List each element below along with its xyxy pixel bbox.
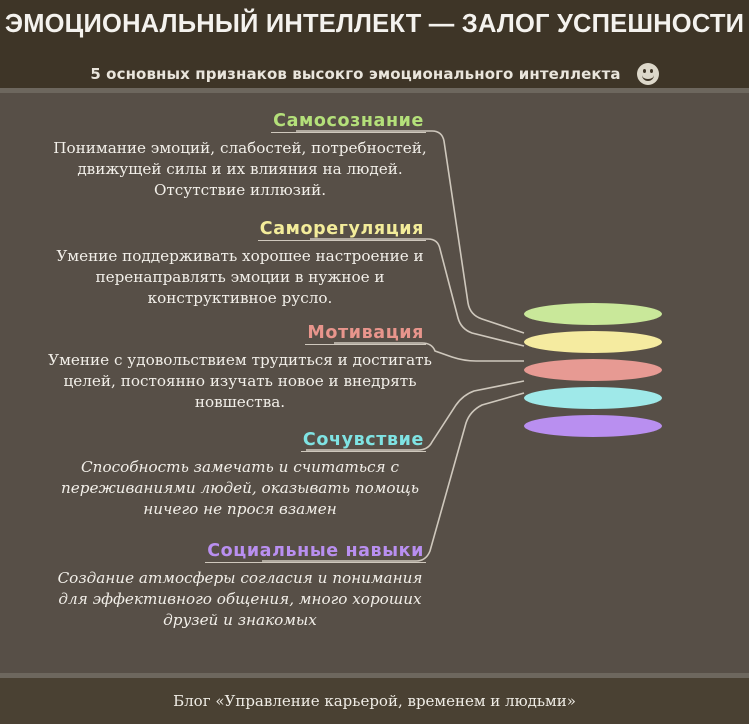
section-heading-self-awareness: Самосознание (271, 111, 426, 133)
poster-header: ЭМОЦИОНАЛЬНЫЙ ИНТЕЛЛЕКТ — ЗАЛОГ УСПЕШНОС… (0, 0, 749, 93)
section-body-empathy: Способность замечать и считаться с переж… (40, 454, 440, 520)
subtitle-row: 5 основных признаков высокго эмоциональн… (0, 57, 749, 91)
section-social-skills: Социальные навыки Создание атмосферы сог… (40, 541, 440, 631)
disc-stack (524, 303, 674, 448)
section-body-motivation: Умение с удовольствием трудиться и дости… (40, 347, 440, 413)
section-heading-row-3: Мотивация (40, 323, 440, 347)
section-body-social-skills: Создание атмосферы согласия и понимания … (40, 565, 440, 631)
section-self-regulation: Саморегуляция Умение поддерживать хороше… (40, 219, 440, 309)
poster-body: Самосознание Понимание эмоций, слабостей… (0, 93, 749, 678)
section-motivation: Мотивация Умение с удовольствием трудить… (40, 323, 440, 413)
section-heading-motivation: Мотивация (305, 323, 426, 345)
section-heading-row-4: Сочувствие (40, 430, 440, 454)
disc-self-regulation (524, 331, 662, 357)
disc-empathy (524, 387, 662, 413)
section-self-awareness: Самосознание Понимание эмоций, слабостей… (40, 111, 440, 201)
footer-blog-name: Блог «Управление карьерой, временем и лю… (173, 692, 576, 710)
disc-self-awareness (524, 303, 662, 329)
section-heading-row-1: Самосознание (40, 111, 440, 135)
infographic-poster: ЭМОЦИОНАЛЬНЫЙ ИНТЕЛЛЕКТ — ЗАЛОГ УСПЕШНОС… (0, 0, 749, 724)
disc-motivation (524, 359, 662, 385)
section-heading-social-skills: Социальные навыки (205, 541, 426, 563)
section-heading-empathy: Сочувствие (301, 430, 426, 452)
disc-social-skills (524, 415, 662, 441)
section-heading-row-5: Социальные навыки (40, 541, 440, 565)
poster-footer: Блог «Управление карьерой, временем и лю… (0, 678, 749, 724)
smiley-face-icon (637, 63, 659, 85)
section-empathy: Сочувствие Способность замечать и считат… (40, 430, 440, 520)
page-title: ЭМОЦИОНАЛЬНЫЙ ИНТЕЛЛЕКТ — ЗАЛОГ УСПЕШНОС… (0, 10, 749, 39)
section-body-self-awareness: Понимание эмоций, слабостей, потребносте… (40, 135, 440, 201)
section-body-self-regulation: Умение поддерживать хорошее настроение и… (40, 243, 440, 309)
section-heading-row-2: Саморегуляция (40, 219, 440, 243)
page-subtitle: 5 основных признаков высокго эмоциональн… (90, 65, 620, 83)
smiley-mouth (642, 72, 654, 81)
section-heading-self-regulation: Саморегуляция (258, 219, 426, 241)
